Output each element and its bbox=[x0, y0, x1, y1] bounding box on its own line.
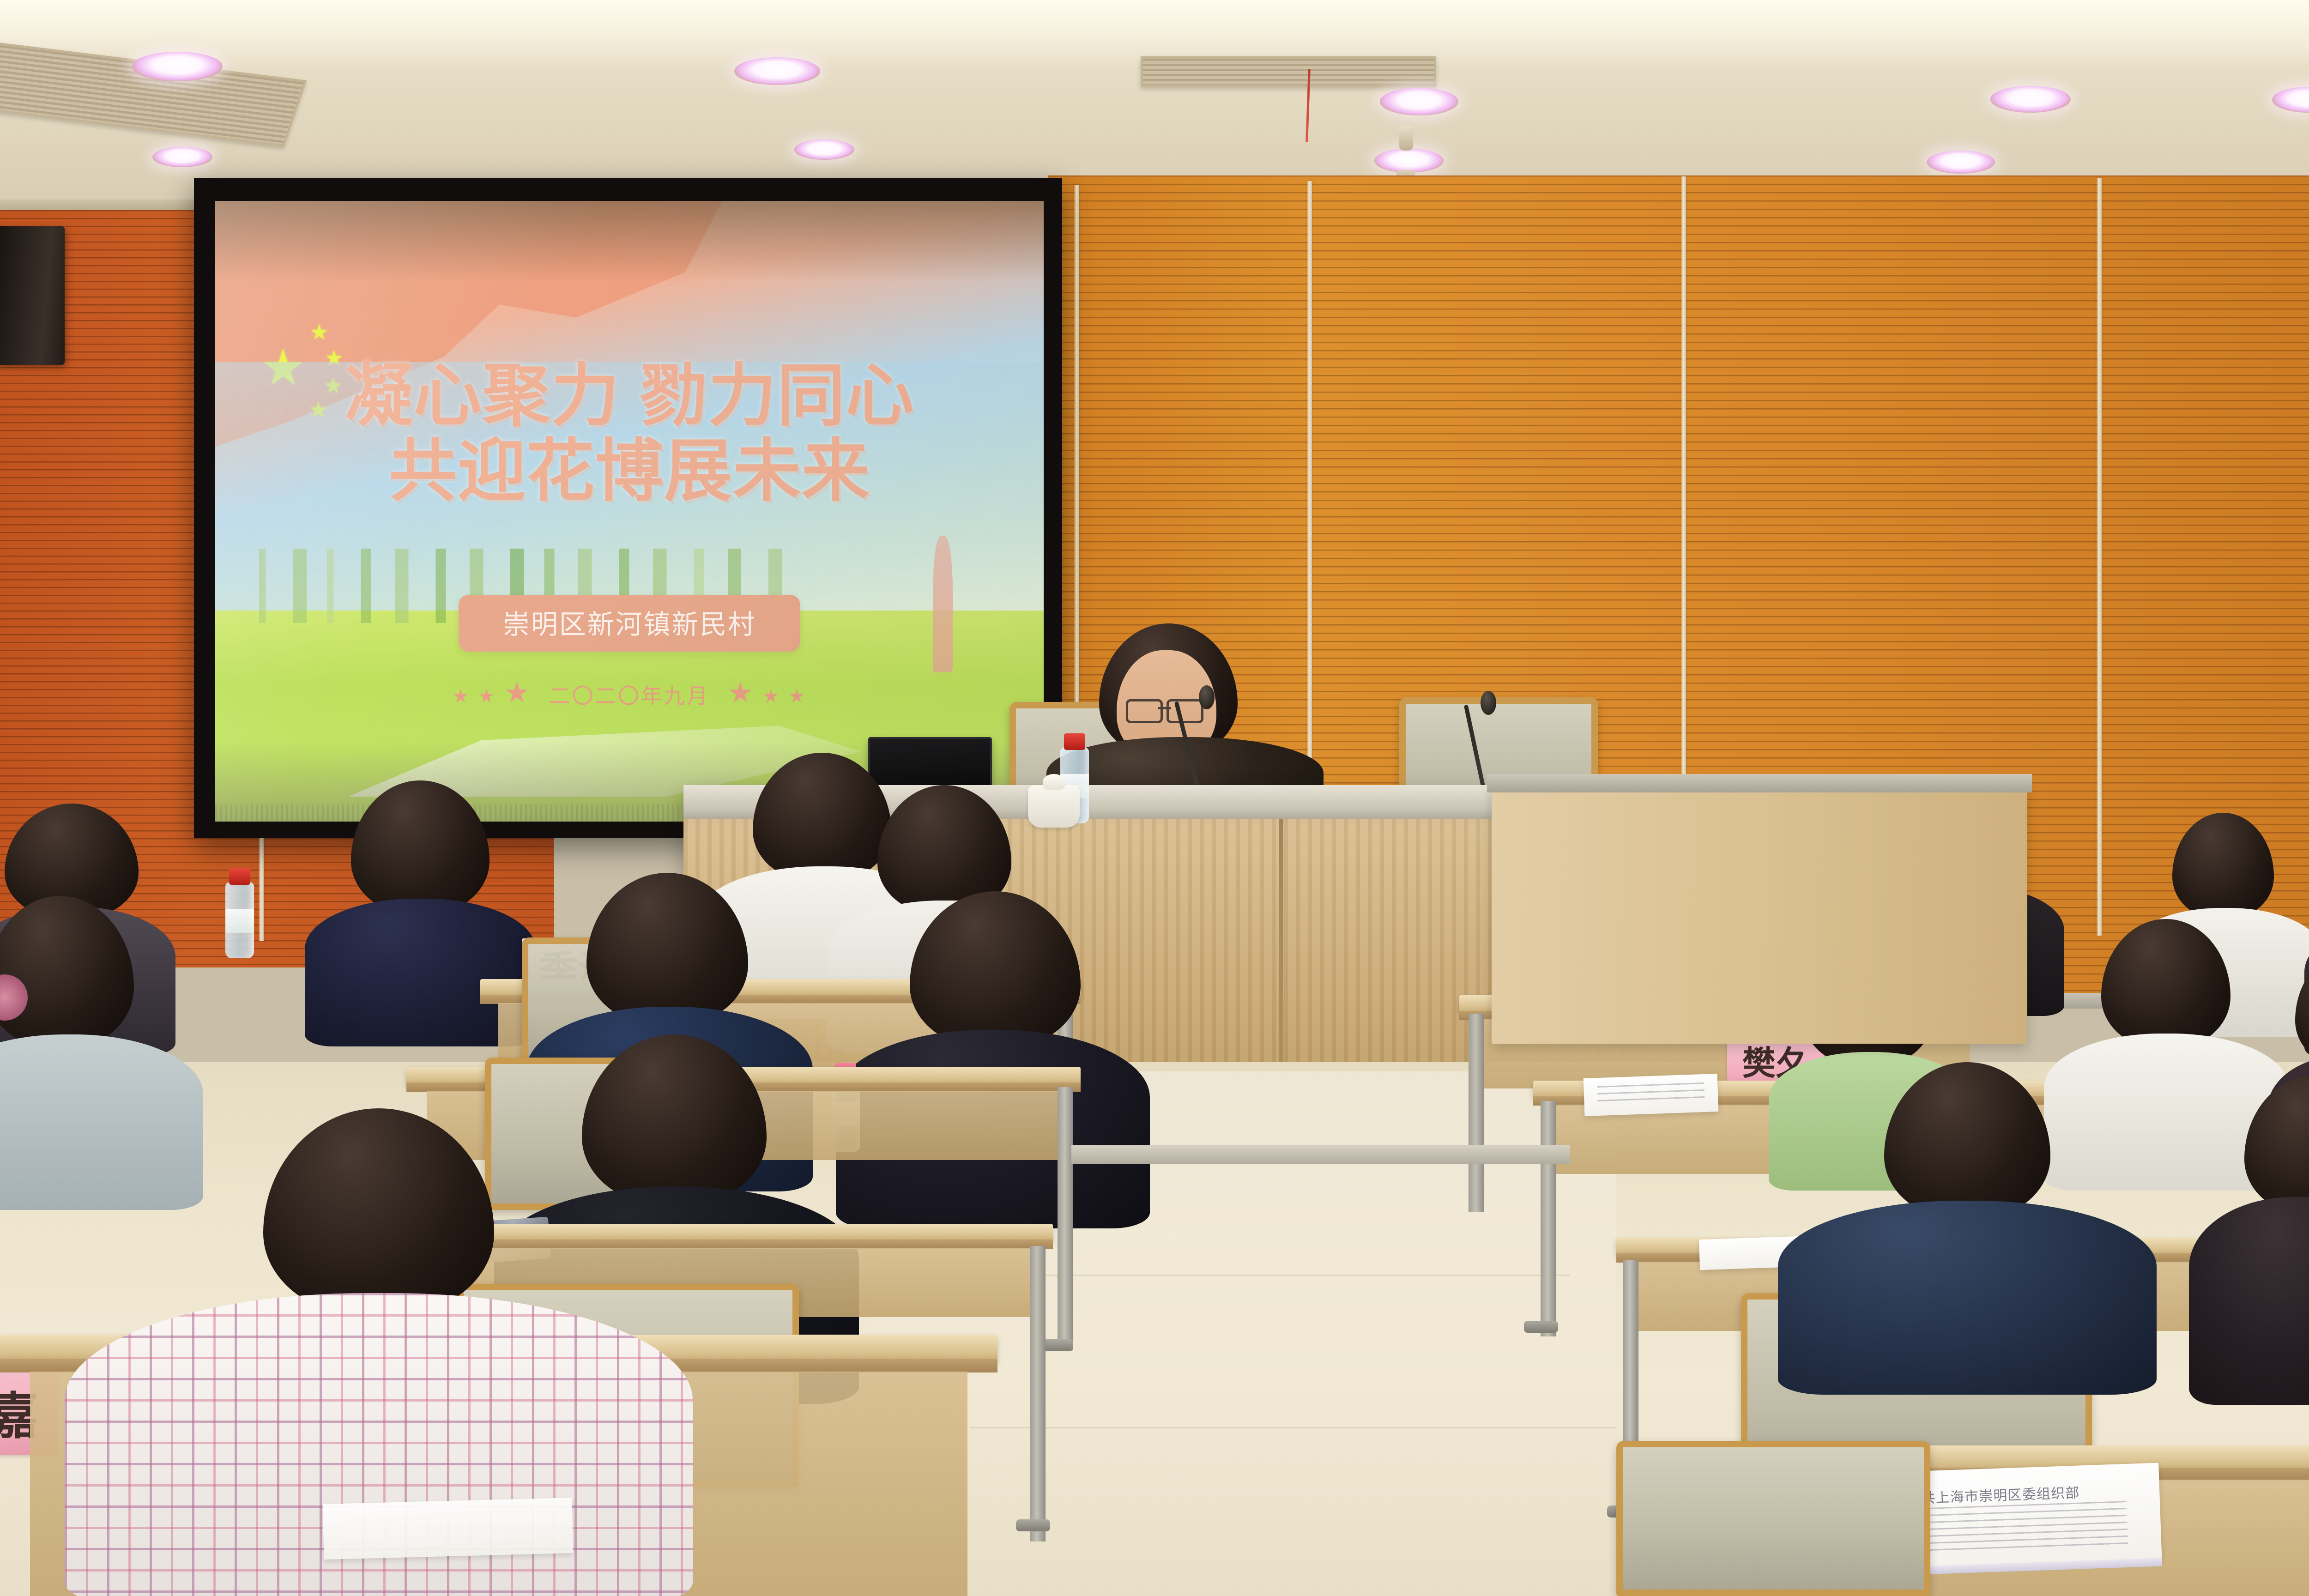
partition-panel-right bbox=[1492, 785, 2027, 1044]
presenter-microphone-head-icon bbox=[1199, 685, 1215, 709]
stage-front-trim bbox=[1071, 1145, 1570, 1164]
presenter-glasses-icon bbox=[1126, 699, 1203, 719]
date-star-d: ★ bbox=[727, 677, 755, 709]
desk-foot-left3 bbox=[1016, 1519, 1050, 1531]
conference-room-photo: ★ ★ ★ ★ ★ 凝心聚力 勠力同心 共迎花博展未来 崇明区新河镇新民村 bbox=[0, 0, 2309, 1596]
slide-title-line2: 共迎花博展未来 bbox=[215, 433, 1044, 510]
date-star-b: ★ bbox=[478, 686, 496, 707]
sprinkler-head bbox=[1399, 126, 1413, 151]
attendee-hair bbox=[910, 891, 1081, 1048]
floor-seam-2 bbox=[970, 1427, 1616, 1428]
downlight-3 bbox=[1380, 88, 1458, 115]
presentation-slide: ★ ★ ★ ★ ★ 凝心聚力 勠力同心 共迎花博展未来 崇明区新河镇新民村 bbox=[215, 201, 1044, 822]
slide-subtitle-badge: 崇明区新河镇新民村 bbox=[459, 595, 800, 652]
paper-right-row2[interactable] bbox=[1584, 1074, 1719, 1116]
attendee-hair bbox=[2295, 951, 2309, 1067]
projector-screen: ★ ★ ★ ★ ★ 凝心聚力 勠力同心 共迎花博展未来 崇明区新河镇新民村 bbox=[215, 201, 1044, 822]
downlight-9 bbox=[152, 147, 212, 167]
date-star-e: ★ bbox=[762, 686, 781, 707]
downlight-2 bbox=[734, 57, 820, 85]
screen-top-shadow bbox=[215, 201, 1044, 282]
downlight-5 bbox=[1374, 149, 1444, 173]
floor-seam-1 bbox=[1016, 1275, 1570, 1276]
date-star-a: ★ bbox=[452, 686, 471, 707]
attendee-torso bbox=[1778, 1201, 2157, 1395]
bottle-cap bbox=[1064, 733, 1085, 750]
attendee-r8 bbox=[1778, 1062, 2157, 1376]
slide-date-row: ★ ★ ★ 二〇二〇年九月 ★ ★ ★ bbox=[215, 676, 1044, 710]
chair-right-row4[interactable] bbox=[1616, 1441, 1930, 1596]
desk-leg-right bbox=[1058, 1087, 1073, 1346]
flag-star-1: ★ bbox=[310, 321, 329, 343]
attendee-torso bbox=[2189, 1197, 2309, 1405]
bottle-cap bbox=[229, 868, 250, 885]
partition-panel-right-top bbox=[1487, 774, 2032, 792]
date-star-f: ★ bbox=[788, 686, 807, 707]
attendee-hair bbox=[351, 780, 490, 914]
attendee-r9 bbox=[2189, 1076, 2309, 1399]
wall-speaker-icon bbox=[0, 226, 65, 365]
ceiling-air-vent-right bbox=[1141, 56, 1436, 87]
attendee-hair bbox=[2172, 813, 2274, 919]
downlight-1 bbox=[132, 52, 223, 81]
attendee-hair bbox=[0, 896, 134, 1048]
paper-left-front[interactable] bbox=[323, 1498, 574, 1560]
slide-title: 凝心聚力 勠力同心 共迎花博展未来 bbox=[215, 359, 1044, 510]
desk-leg-left bbox=[1541, 1101, 1556, 1336]
slide-windmill-icon bbox=[933, 536, 953, 673]
spare-microphone-head-icon bbox=[1481, 691, 1496, 715]
attendee-hair bbox=[2101, 919, 2230, 1048]
attendee-hair bbox=[2244, 1076, 2309, 1215]
paper-lines bbox=[1597, 1082, 1705, 1104]
desk-leg-left bbox=[1469, 1014, 1484, 1212]
downlight-6 bbox=[1927, 151, 1995, 174]
slide-date-text: 二〇二〇年九月 bbox=[549, 684, 710, 708]
date-star-c: ★ bbox=[504, 677, 531, 709]
wall-seam-5 bbox=[2097, 178, 2102, 936]
desk-foot-right2 bbox=[1524, 1321, 1558, 1333]
attendee-hair bbox=[1884, 1062, 2050, 1219]
downlight-7 bbox=[794, 139, 854, 160]
downlight-4 bbox=[1990, 86, 2071, 113]
slide-title-line1: 凝心聚力 勠力同心 bbox=[215, 359, 1044, 433]
attendee-hair bbox=[586, 873, 748, 1025]
desk-leg-right bbox=[1030, 1246, 1046, 1542]
attendee-hair bbox=[263, 1108, 494, 1316]
